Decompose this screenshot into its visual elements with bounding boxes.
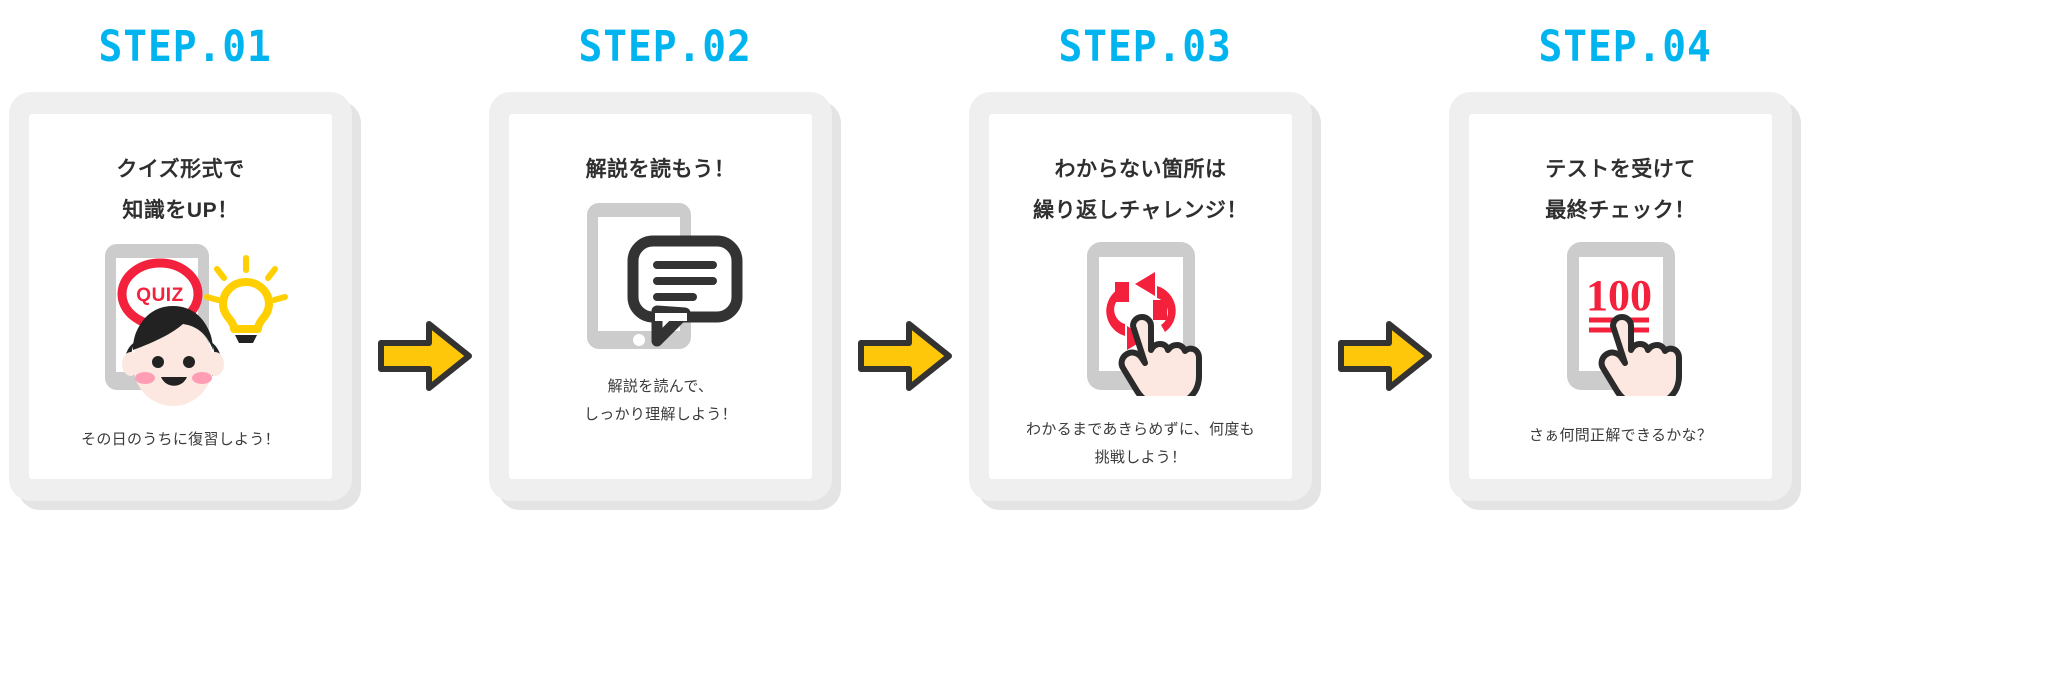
step-card-2: 解説を読もう！ — [489, 92, 841, 510]
illustration-retry-challenge — [989, 238, 1292, 408]
tablet-refresh-loop-hand-icon — [1051, 236, 1231, 396]
card-caption-4: さぁ何問正解できるかな？ — [1469, 422, 1772, 450]
step-column-4: STEP.04 テストを受けて 最終チェック！ 100 — [1440, 0, 1810, 510]
card-body: わからない箇所は 繰り返しチャレンジ！ — [989, 114, 1292, 479]
card-caption-line1: さぁ何問正解できるかな？ — [1469, 422, 1772, 450]
card-body: テストを受けて 最終チェック！ 100 — [1469, 114, 1772, 479]
card-body: クイズ形式で 知識をUP！ — [29, 114, 332, 479]
tablet-chat-bubble-icon — [561, 193, 761, 361]
step-label-3: STEP.03 — [1058, 22, 1231, 72]
score-value: 100 — [1586, 271, 1652, 320]
arrow-cell-1 — [370, 0, 480, 698]
step-column-3: STEP.03 わからない箇所は 繰り返しチャレンジ！ — [960, 0, 1330, 510]
tablet-quiz-bubble-lightbulb-child-icon: QUIZ — [61, 238, 301, 406]
arrow-cell-3 — [1330, 0, 1440, 698]
svg-text:QUIZ: QUIZ — [136, 285, 183, 306]
card-title-line2: 知識をUP！ — [29, 191, 332, 232]
card-title-line1: 解説を読もう！ — [509, 150, 812, 191]
card-caption-line1: その日のうちに復習しよう！ — [29, 426, 332, 454]
illustration-quiz-child: QUIZ — [29, 238, 332, 408]
step-card-1: クイズ形式で 知識をUP！ — [9, 92, 361, 510]
step-card-4: テストを受けて 最終チェック！ 100 — [1449, 92, 1801, 510]
card-title-line1: わからない箇所は — [989, 150, 1292, 191]
card-caption-3: わかるまであきらめずに、何度も 挑戦しよう！ — [989, 416, 1292, 472]
illustration-read-explanation — [509, 197, 812, 367]
step-card-3: わからない箇所は 繰り返しチャレンジ！ — [969, 92, 1321, 510]
card-title-line1: テストを受けて — [1469, 150, 1772, 191]
card-caption-2: 解説を読んで、 しっかり理解しよう！ — [509, 373, 812, 429]
steps-infographic: STEP.01 クイズ形式で 知識をUP！ — [0, 0, 2050, 698]
step-column-1: STEP.01 クイズ形式で 知識をUP！ — [0, 0, 370, 510]
card-caption-line1: わかるまであきらめずに、何度も — [989, 416, 1292, 444]
step-label-2: STEP.02 — [578, 22, 751, 72]
card-frame: クイズ形式で 知識をUP！ — [9, 92, 352, 501]
card-title-line2: 最終チェック！ — [1469, 191, 1772, 232]
right-arrow-icon — [1337, 319, 1433, 393]
card-title-2: 解説を読もう！ — [509, 150, 812, 191]
illustration-test-score: 100 — [1469, 238, 1772, 408]
right-arrow-icon — [857, 319, 953, 393]
step-label-4: STEP.04 — [1538, 22, 1711, 72]
step-column-2: STEP.02 解説を読もう！ — [480, 0, 850, 510]
card-title-line1: クイズ形式で — [29, 150, 332, 191]
card-title-line2: 繰り返しチャレンジ！ — [989, 191, 1292, 232]
card-caption-line2: しっかり理解しよう！ — [509, 401, 812, 429]
tablet-score-hand-icon: 100 — [1531, 236, 1711, 396]
card-title-3: わからない箇所は 繰り返しチャレンジ！ — [989, 150, 1292, 232]
card-caption-1: その日のうちに復習しよう！ — [29, 426, 332, 454]
card-frame: テストを受けて 最終チェック！ 100 — [1449, 92, 1792, 501]
right-arrow-icon — [377, 319, 473, 393]
card-title-4: テストを受けて 最終チェック！ — [1469, 150, 1772, 232]
card-title-1: クイズ形式で 知識をUP！ — [29, 150, 332, 232]
card-caption-line2: 挑戦しよう！ — [989, 444, 1292, 472]
card-frame: わからない箇所は 繰り返しチャレンジ！ — [969, 92, 1312, 501]
arrow-cell-2 — [850, 0, 960, 698]
step-label-1: STEP.01 — [98, 22, 271, 72]
card-caption-line1: 解説を読んで、 — [509, 373, 812, 401]
card-frame: 解説を読もう！ — [489, 92, 832, 501]
card-body: 解説を読もう！ — [509, 114, 812, 479]
